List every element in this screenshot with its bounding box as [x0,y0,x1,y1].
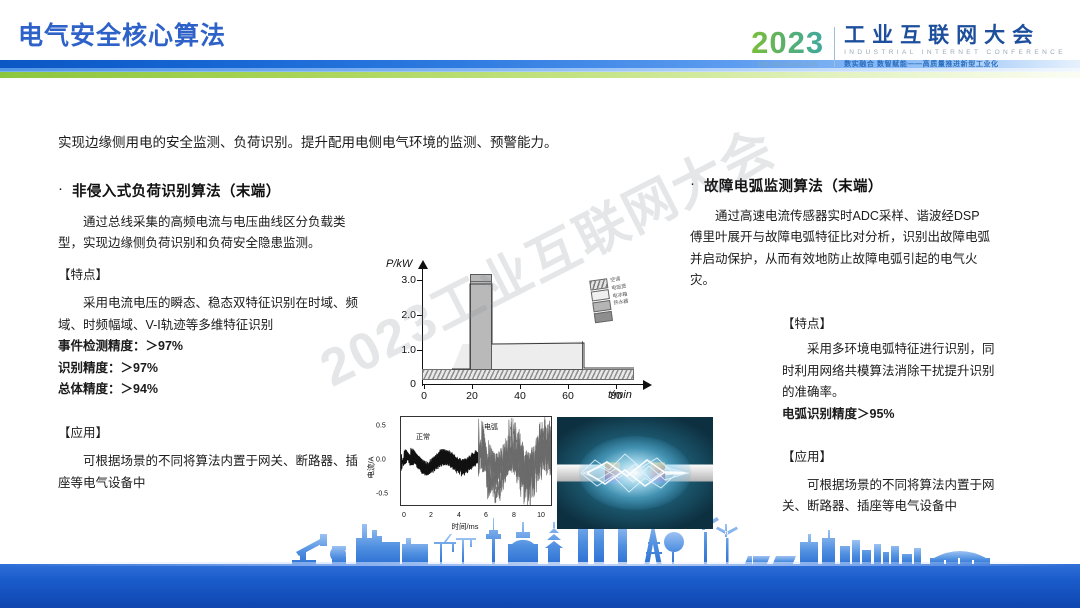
right-intro: 通过高速电流传感器实时ADC采样、谐波经DSP傅里叶展开与故障电弧特征比对分析，… [690,206,990,292]
chart2-plot-frame [400,416,552,506]
chart2-xtick-2: 4 [457,512,461,519]
chart1-xtickmark-0 [424,384,425,389]
chart2-annotation-arc: 电弧 [484,422,498,432]
logo-title-block: 工业互联网大会 INDUSTRIAL INTERNET CONFERENCE 数… [844,25,1066,69]
chart1-xtickmark-3 [568,384,569,389]
left-intro: 通过总线采集的高频电流与电压曲线区分负载类型，实现边缘侧负荷识别和负荷安全隐患监… [58,212,358,255]
right-heading-row: · 故障电弧监测算法（末端） [690,175,990,200]
logo-year-text: 2023 [751,27,824,58]
chart2-annotation-normal: 正常 [416,432,430,442]
chart2-ytick-0: 0.5 [376,423,386,430]
chart1-legend: 空调 电饭煲 电冰箱 热水器 [589,276,631,324]
right-metric-0: 电弧识别精度＞95% [782,404,997,426]
left-application-body: 可根据场景的不同将算法内置于网关、断路器、插座等电气设备中 [58,451,358,494]
chart1-xtickmark-1 [472,384,473,389]
chart1-xtick-0: 0 [421,390,427,402]
right-application-label: 【应用】 [782,447,997,469]
chart2-xtick-0: 0 [402,512,406,519]
arc-waveform-chart: 电流/A 0.5 0.0 -0.5 正常 电弧 0 2 4 6 8 10 时间/… [372,410,558,532]
right-feature-body: 采用多环境电弧特征进行识别，同时利用网络共模算法消除干扰提升识别的准确率。 [782,339,997,404]
logo-year-block: 2023 中国·芜湖 8月14日-18日 [751,27,834,68]
chart1-xtick-2: 40 [514,390,526,402]
electric-arc-photo [557,417,713,529]
right-column: · 故障电弧监测算法（末端） 通过高速电流传感器实时ADC采样、谐波经DSP傅里… [690,175,990,518]
chart1-xtick-1: 20 [466,390,478,402]
left-heading: 非侵入式负荷识别算法（末端） [72,180,281,205]
chart1-ylabel-text: P/kW [386,258,412,270]
chart1-x-axis [422,384,644,385]
right-spacer-1 [782,292,997,314]
footer-ground-band [0,564,1080,608]
logo-slogan: 数实融合 数智赋能——高质量推进新型工业化 [844,59,1066,69]
right-detail-block: 【特点】 采用多环境电弧特征进行识别，同时利用网络共模算法消除干扰提升识别的准确… [782,292,997,518]
chart1-y-axis-label: P/kW [386,258,412,270]
chart2-xtick-5: 10 [537,512,545,519]
chart1-plot-area: 空调 电饭煲 电冰箱 热水器 [422,274,634,380]
chart2-xtick-4: 8 [512,512,516,519]
chart1-ytick-3: 3.0 [388,274,416,286]
chart1-xtick-3: 60 [562,390,574,402]
logo-separator [834,27,835,67]
left-feature-body: 采用电流电压的瞬态、稳态双特征识别在时域、频域、时频幅域、V-I轨迹等多维特征识… [58,293,358,336]
arc-lightning-icon [575,438,695,508]
chart2-xtick-3: 6 [484,512,488,519]
left-feature-label: 【特点】 [58,265,358,287]
logo-chinese-title: 工业互联网大会 [844,25,1066,47]
right-feature-label: 【特点】 [782,314,997,336]
chart1-ytick-0: 0 [388,378,416,390]
left-spacer-1 [58,255,358,265]
chart1-xtickmark-2 [520,384,521,389]
left-column: · 非侵入式负荷识别算法（末端） 通过总线采集的高频电流与电压曲线区分负载类型，… [58,180,358,494]
right-spacer-2 [782,425,997,447]
conference-logo: 2023 中国·芜湖 8月14日-18日 工业互联网大会 INDUSTRIAL … [751,18,1066,76]
left-metric-2: 总体精度：＞94% [58,379,358,401]
chart2-ytick-2: -0.5 [376,491,388,498]
left-heading-row: · 非侵入式负荷识别算法（末端） [58,180,358,205]
left-metric-1: 识别精度：＞97% [58,358,358,380]
right-top-block: · 故障电弧监测算法（末端） 通过高速电流传感器实时ADC采样、谐波经DSP傅里… [690,175,990,292]
chart2-y-axis-label: 电流/A [366,456,377,478]
logo-english-title: INDUSTRIAL INTERNET CONFERENCE [844,49,1066,56]
logo-date-text: 中国·芜湖 8月14日-18日 [757,61,818,68]
chart2-ytick-1: 0.0 [376,457,386,464]
page-title: 电气安全核心算法 [18,16,226,52]
chart2-x-axis-label: 时间/ms [372,521,558,532]
left-bullet-icon: · [58,180,63,198]
chart2-waveform-svg [401,417,552,506]
chart2-xtick-1: 2 [429,512,433,519]
right-heading: 故障电弧监测算法（末端） [704,175,883,200]
power-time-chart: P/kW 3.0 2.0 1.0 0 [386,258,652,408]
lead-paragraph: 实现边缘侧用电的安全监测、负荷识别。提升配用电侧电气环境的监测、预警能力。 [58,132,758,154]
chart1-ytick-2: 2.0 [388,309,416,321]
left-application-label: 【应用】 [58,423,358,445]
left-metric-0: 事件检测精度：＞97% [58,336,358,358]
chart1-ytick-1: 1.0 [388,344,416,356]
slide-root: 电气安全核心算法 2023 中国·芜湖 8月14日-18日 工业互联网大会 IN… [0,0,1080,608]
chart1-legend-label-3: 热水器 [613,299,629,309]
chart1-x-axis-label: t/min [608,389,632,401]
right-bullet-icon: · [690,175,695,193]
left-spacer-2 [58,401,358,423]
chart1-xlabel-text: t/min [608,389,632,401]
